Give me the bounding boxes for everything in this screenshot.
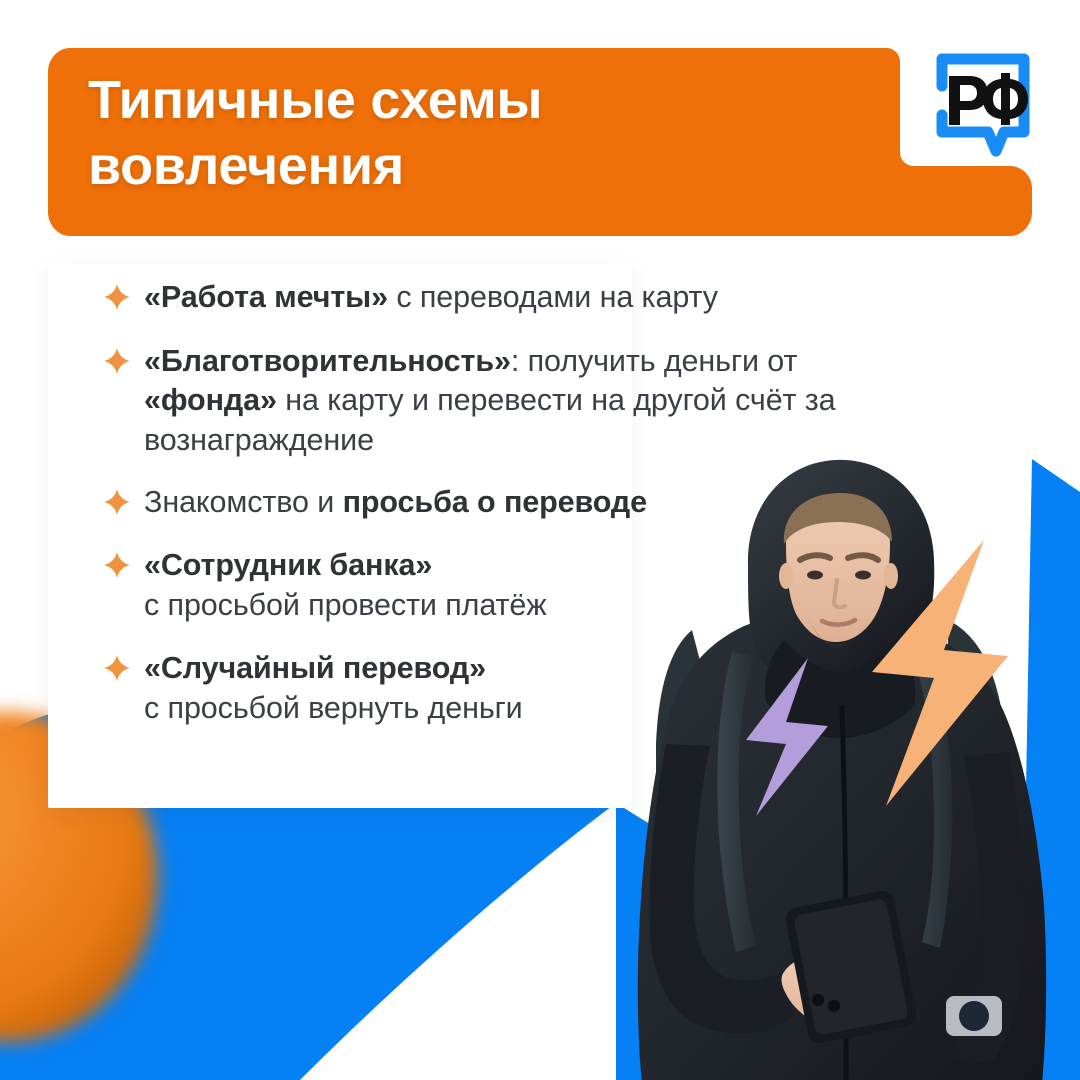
rf-logo [928, 46, 1038, 164]
watch-face [959, 1001, 989, 1031]
list-item: «Сотрудник банка» с просьбой провести пл… [48, 546, 928, 625]
phone-camera [812, 994, 824, 1006]
list-item: «Работа мечты» с переводами на карту [48, 278, 928, 318]
header-banner: Типичные схемывовлечения [48, 48, 1032, 236]
diamond-bullet-icon [104, 655, 130, 681]
page-title: Типичные схемывовлечения [88, 68, 848, 200]
list-item: «Благотворительность»: получить деньги о… [48, 342, 928, 461]
phone-camera-2 [828, 1000, 840, 1012]
list-item-text: «Случайный перевод» с просьбой вернуть д… [144, 649, 523, 728]
schemes-list: «Работа мечты» с переводами на карту «Бл… [48, 278, 928, 729]
list-item-text: «Работа мечты» с переводами на карту [144, 278, 718, 318]
infographic-canvas: «Работа мечты» с переводами на карту «Бл… [0, 0, 1080, 1080]
rf-letters [949, 73, 1028, 125]
list-item: Знакомство и просьба о переводе [48, 483, 928, 523]
diamond-bullet-icon [104, 489, 130, 515]
list-item-text: «Сотрудник банка» с просьбой провести пл… [144, 546, 547, 625]
list-item-text: Знакомство и просьба о переводе [144, 483, 647, 523]
diamond-bullet-icon [104, 552, 130, 578]
list-item: «Случайный перевод» с просьбой вернуть д… [48, 649, 928, 728]
list-item-text: «Благотворительность»: получить деньги о… [144, 342, 928, 461]
rf-speech-bubble-logo [928, 46, 1038, 164]
diamond-bullet-icon [104, 348, 130, 374]
diamond-bullet-icon [104, 284, 130, 310]
